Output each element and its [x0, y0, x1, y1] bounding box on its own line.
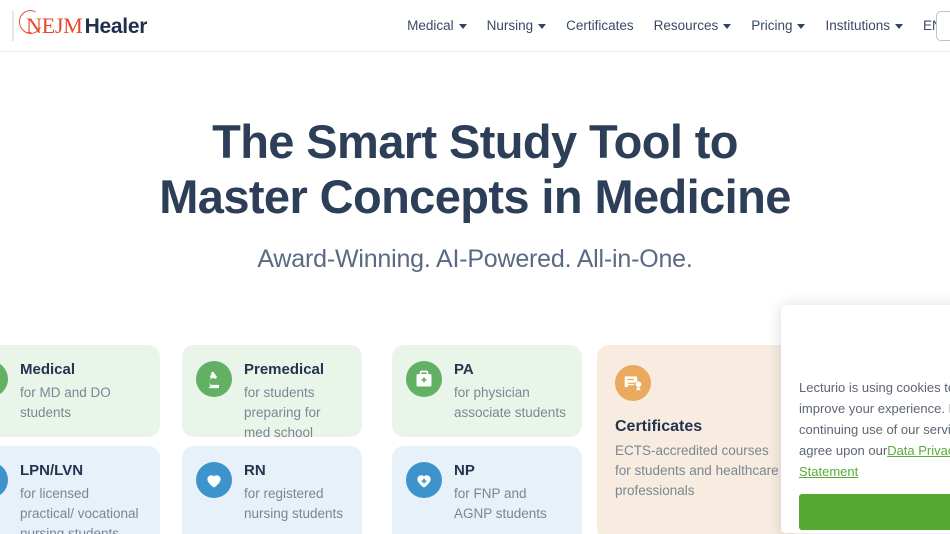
- card-body: LPN/LVNfor licensed practical/ vocationa…: [20, 462, 144, 534]
- card-description: ECTS-accredited courses for students and…: [615, 441, 779, 501]
- nav-label: Pricing: [751, 19, 792, 33]
- chevron-down-icon: [723, 24, 731, 29]
- accept-cookies-button[interactable]: Got it.: [799, 494, 950, 530]
- chevron-down-icon: [797, 24, 805, 29]
- card-title: NP: [454, 462, 566, 481]
- logo-healer-word: Healer: [85, 16, 147, 37]
- nav-label: Certificates: [566, 19, 634, 33]
- card-description: for physician associate students: [454, 383, 566, 423]
- card-description: for registered nursing students: [244, 484, 346, 524]
- hero-subtitle: Award-Winning. AI-Powered. All-in-One.: [0, 245, 950, 274]
- chevron-down-icon: [459, 24, 467, 29]
- site-header: NEJMHealer Medical Nursing Certificates …: [0, 0, 950, 52]
- nav-item-institutions[interactable]: Institutions: [825, 19, 903, 33]
- audience-card-medical[interactable]: Medicalfor MD and DO students: [0, 345, 160, 437]
- stethoscope-icon: [0, 361, 8, 397]
- headline-line-1: The Smart Study Tool to: [212, 115, 738, 168]
- cookie-message: Lecturio is using cookies to improve you…: [799, 377, 950, 482]
- nav-label: Resources: [654, 19, 719, 33]
- card-title: Certificates: [615, 417, 779, 437]
- card-title: Premedical: [244, 361, 346, 380]
- audience-card-pa[interactable]: PAfor physician associate students: [392, 345, 582, 437]
- card-title: LPN/LVN: [20, 462, 144, 481]
- card-description: for MD and DO students: [20, 383, 144, 423]
- nav-item-nursing[interactable]: Nursing: [487, 19, 547, 33]
- card-body: Premedicalfor students preparing for med…: [244, 361, 346, 443]
- nav-item-pricing[interactable]: Pricing: [751, 19, 805, 33]
- main-navigation: Medical Nursing Certificates Resources P…: [407, 19, 950, 33]
- audience-card-rn[interactable]: RNfor registered nursing students: [182, 446, 362, 534]
- logo-nejm-mark: NEJM: [22, 15, 85, 37]
- login-button[interactable]: Log in: [936, 11, 950, 41]
- heart-plus-icon: [406, 462, 442, 498]
- nav-item-certificates[interactable]: Certificates: [566, 19, 634, 33]
- card-description: for students preparing for med school: [244, 383, 346, 443]
- heart-pulse-icon: [0, 462, 8, 498]
- medical-bag-icon: [406, 361, 442, 397]
- nav-label: Medical: [407, 19, 454, 33]
- card-title: RN: [244, 462, 346, 481]
- cookie-consent-banner: Lecturio is using cookies to improve you…: [781, 305, 950, 533]
- chevron-down-icon: [538, 24, 546, 29]
- audience-card-certificates[interactable]: CertificatesECTS-accredited courses for …: [597, 345, 797, 534]
- logo-text: NEJMHealer: [22, 15, 147, 37]
- page-root: NEJMHealer Medical Nursing Certificates …: [0, 0, 950, 534]
- hero-section: The Smart Study Tool to Master Concepts …: [0, 52, 950, 274]
- audience-card-lpn-lvn[interactable]: LPN/LVNfor licensed practical/ vocationa…: [0, 446, 160, 534]
- certificate-icon: [615, 365, 651, 401]
- heart-pulse-icon: [196, 462, 232, 498]
- card-body: Medicalfor MD and DO students: [20, 361, 144, 423]
- nav-label: Nursing: [487, 19, 534, 33]
- nav-item-resources[interactable]: Resources: [654, 19, 732, 33]
- card-title: Medical: [20, 361, 144, 380]
- card-body: RNfor registered nursing students: [244, 462, 346, 524]
- nav-item-medical[interactable]: Medical: [407, 19, 467, 33]
- nav-label: Institutions: [825, 19, 890, 33]
- card-description: for FNP and AGNP students: [454, 484, 566, 524]
- site-logo[interactable]: NEJMHealer: [12, 11, 147, 41]
- microscope-icon: [196, 361, 232, 397]
- card-body: PAfor physician associate students: [454, 361, 566, 423]
- headline-line-2: Master Concepts in Medicine: [159, 170, 791, 223]
- card-description: for licensed practical/ vocational nursi…: [20, 484, 144, 534]
- audience-card-np[interactable]: NPfor FNP and AGNP students: [392, 446, 582, 534]
- card-title: PA: [454, 361, 566, 380]
- chevron-down-icon: [895, 24, 903, 29]
- page-title: The Smart Study Tool to Master Concepts …: [0, 114, 950, 225]
- card-body: NPfor FNP and AGNP students: [454, 462, 566, 524]
- card-body: CertificatesECTS-accredited courses for …: [615, 417, 779, 501]
- audience-card-premedical[interactable]: Premedicalfor students preparing for med…: [182, 345, 362, 437]
